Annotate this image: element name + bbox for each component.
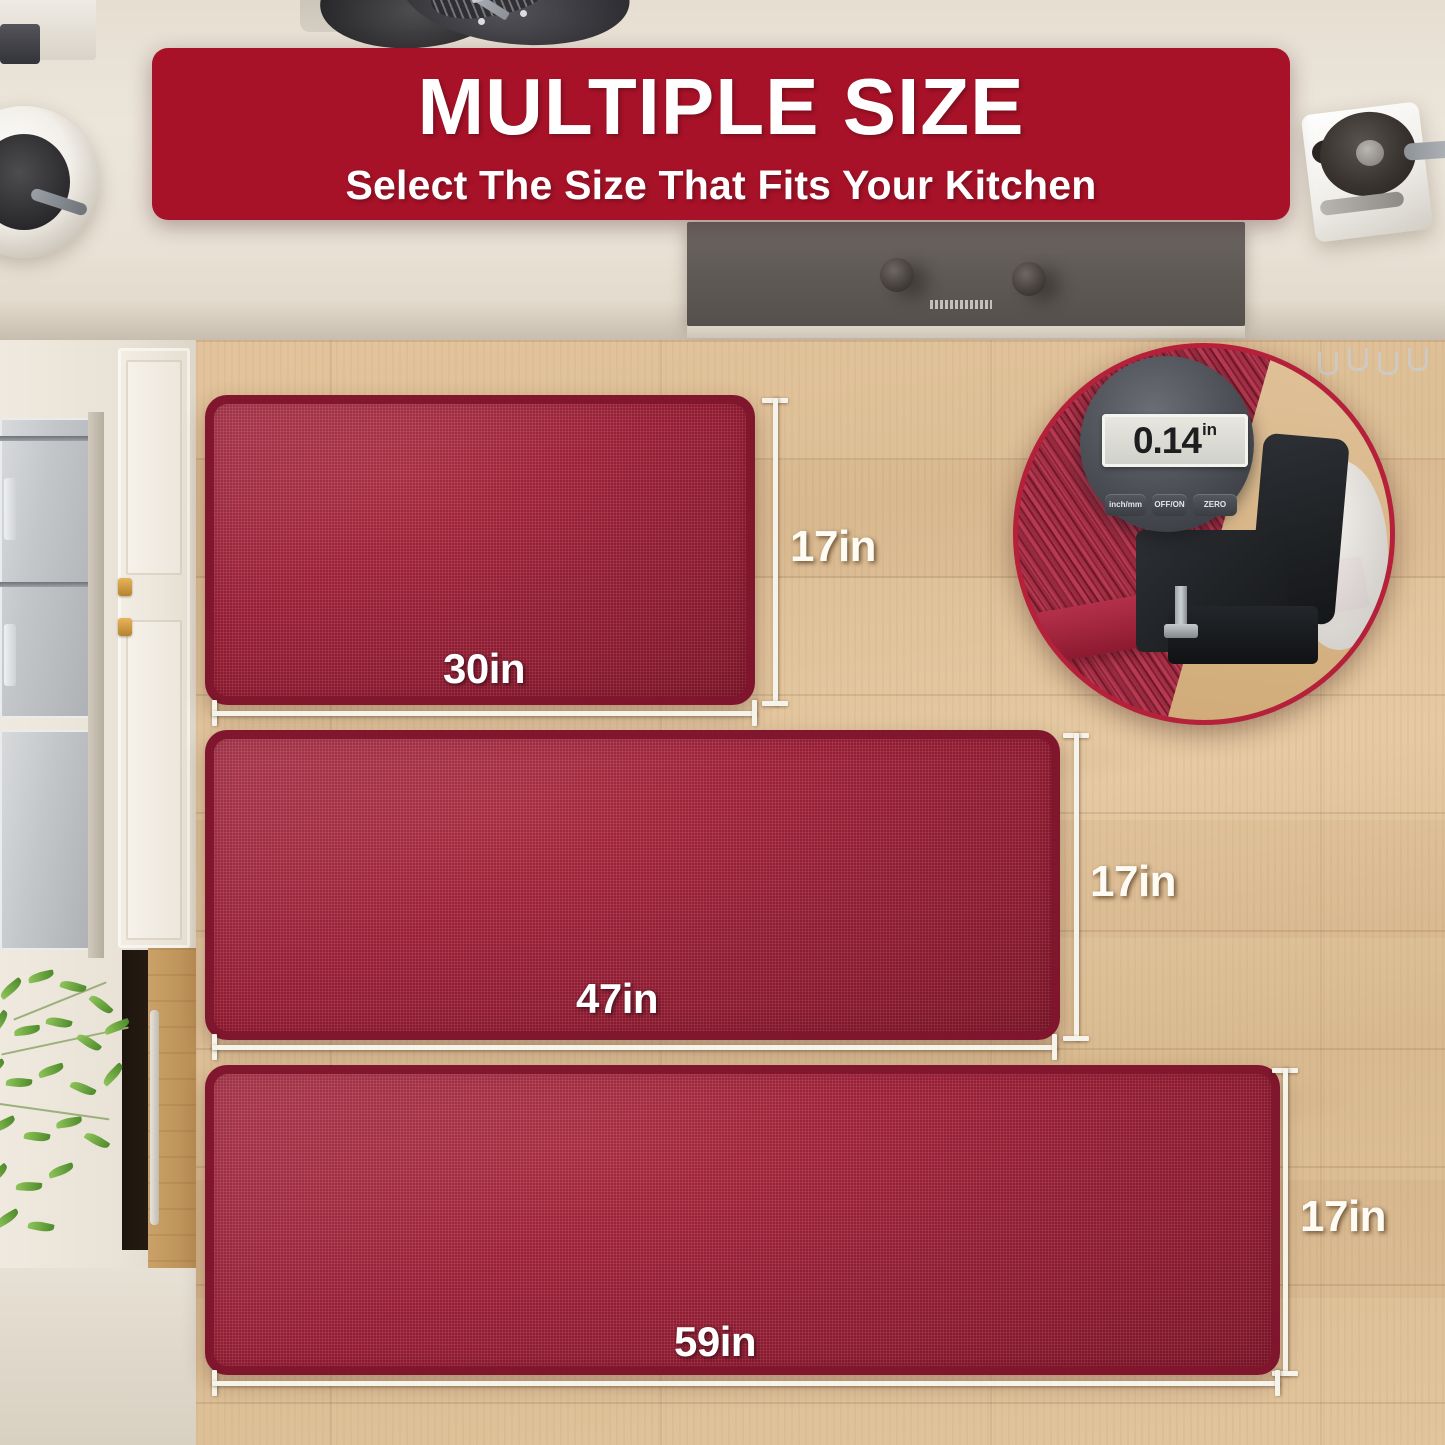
header-banner: MULTIPLE SIZE Select The Size That Fits … — [152, 48, 1290, 220]
cooktop-burner — [880, 258, 914, 292]
knife-rivet — [520, 10, 527, 17]
built-in-warming-drawer — [0, 730, 92, 950]
infographic-canvas: 30in 47in 59in 17in 17in 17in 0.14 in — [0, 0, 1445, 1445]
dimension-line-horizontal-mat3 — [212, 1370, 1280, 1396]
gauge-reading-unit: in — [1202, 421, 1217, 438]
gauge-anvil — [1164, 624, 1198, 638]
dimension-line-vertical-mat3 — [1272, 1068, 1298, 1376]
cabinet-panel — [126, 360, 182, 575]
gauge-button-inch-mm[interactable]: inch/mm — [1105, 494, 1146, 516]
gauge-spindle — [1175, 586, 1187, 628]
gauge-button-off-on[interactable]: OFF/ON — [1152, 494, 1187, 516]
cooktop — [687, 222, 1245, 326]
dimension-label-height-mat1: 17in — [790, 522, 876, 572]
kettle-knob — [1356, 140, 1384, 166]
gauge-display: 0.14 in — [1102, 414, 1248, 467]
banner-title: MULTIPLE SIZE — [417, 67, 1024, 147]
thickness-callout-circle: 0.14 in inch/mm OFF/ON ZERO — [1013, 343, 1395, 725]
dimension-line-vertical-mat1 — [762, 398, 788, 706]
mat-width-label-47in: 47in — [576, 975, 658, 1023]
dimension-line-vertical-mat2 — [1063, 733, 1089, 1041]
cabinet-knob — [118, 578, 132, 596]
wall-hook-icon — [1408, 348, 1428, 371]
mat-width-label-30in: 30in — [443, 645, 525, 693]
plant-decoration — [0, 960, 170, 1250]
lower-cabinet — [0, 1268, 196, 1445]
dimension-line-horizontal-mat2 — [212, 1034, 1057, 1060]
dimension-label-height-mat2: 17in — [1090, 857, 1176, 907]
banner-subtitle: Select The Size That Fits Your Kitchen — [345, 165, 1096, 206]
cabinet-knob — [118, 618, 132, 636]
dimension-line-horizontal-mat1 — [212, 700, 757, 726]
cooktop-burner — [1012, 262, 1046, 296]
gauge-button-zero[interactable]: ZERO — [1193, 494, 1237, 516]
dimension-label-height-mat3: 17in — [1300, 1192, 1386, 1242]
kettle-handle — [1403, 140, 1445, 161]
cooktop-brand-logo — [930, 300, 992, 309]
built-in-oven — [0, 418, 92, 718]
appliance-side-edge — [88, 412, 104, 958]
counter-appliance-dark-panel — [0, 24, 40, 64]
knife-rivet — [478, 18, 485, 25]
cabinet-panel — [126, 620, 182, 940]
mat-width-label-59in: 59in — [674, 1318, 756, 1366]
cooktop-front-edge — [687, 326, 1245, 338]
gauge-reading-value: 0.14 — [1133, 422, 1201, 459]
